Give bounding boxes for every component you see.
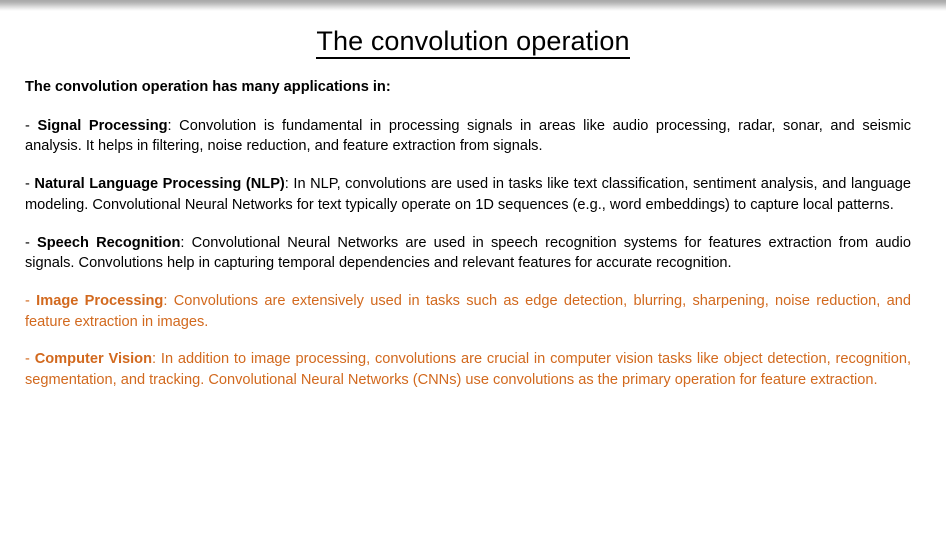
slide-body: The convolution operation has many appli… (25, 78, 911, 391)
bullet-dash: - (25, 118, 37, 134)
bullet-computer-vision: - Computer Vision: In addition to image … (25, 349, 911, 390)
bullet-lead-label: Computer Vision (35, 351, 152, 367)
bullet-dash: - (25, 293, 36, 309)
intro-line: The convolution operation has many appli… (25, 78, 911, 97)
bullet-lead-label: Speech Recognition (37, 235, 180, 251)
bullet-lead-label: Natural Language Processing (NLP) (34, 176, 284, 192)
bullet-lead-label: Image Processing (36, 293, 163, 309)
bullet-natural-language-processing: - Natural Language Processing (NLP): In … (25, 174, 911, 215)
top-gradient-bar (0, 0, 946, 11)
slide-title-container: The convolution operation (0, 27, 946, 59)
bullet-body-text: : In addition to image processing, convo… (25, 351, 911, 388)
page-title: The convolution operation (316, 27, 629, 59)
bullet-lead-label: Signal Processing (37, 118, 167, 134)
bullet-signal-processing: - Signal Processing: Convolution is fund… (25, 116, 911, 157)
bullet-speech-recognition: - Speech Recognition: Convolutional Neur… (25, 233, 911, 274)
bullet-dash: - (25, 351, 35, 367)
bullet-dash: - (25, 235, 37, 251)
bullet-image-processing: - Image Processing: Convolutions are ext… (25, 291, 911, 332)
slide-canvas: The convolution operation The convolutio… (0, 0, 946, 533)
bullet-dash: - (25, 176, 34, 192)
